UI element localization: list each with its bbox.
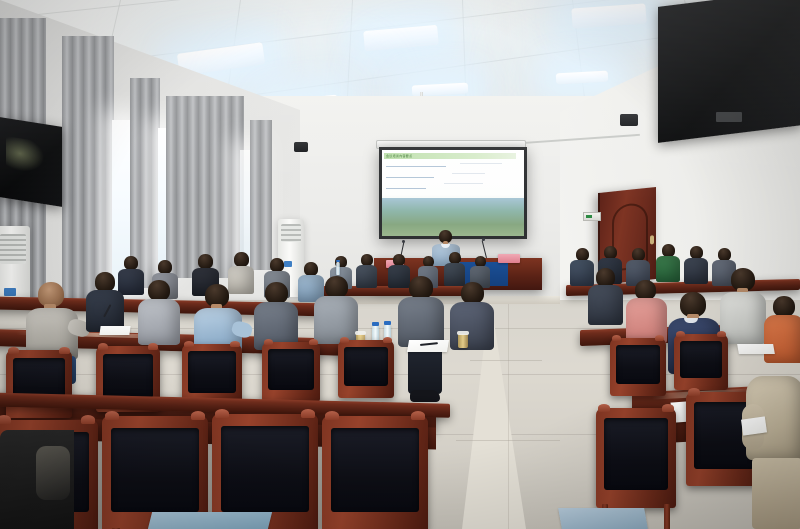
attendee-torso xyxy=(228,266,254,294)
attendee-head xyxy=(234,252,249,267)
bottle-cap xyxy=(384,321,391,325)
tea-cup-lid xyxy=(355,331,366,335)
nameplate-right xyxy=(498,254,520,263)
attendee-torso xyxy=(388,265,410,288)
attendee-torso xyxy=(764,315,800,363)
slide-title: 会议培训内容要点 xyxy=(386,153,460,159)
slide-rule-1 xyxy=(386,166,446,167)
attendee-torso xyxy=(444,263,465,286)
chair[interactable] xyxy=(674,334,728,390)
attendee-torso xyxy=(570,260,594,286)
projection-screen[interactable]: 会议培训内容要点 —————————————— ——————————— ————… xyxy=(379,147,527,239)
attendee-head xyxy=(198,254,213,269)
slide-body-line-1: —————————————— xyxy=(460,161,516,165)
slide-photo-area xyxy=(382,198,524,236)
attendee-head xyxy=(304,262,318,276)
standing-attendee-leg xyxy=(752,458,800,529)
attendee-torso xyxy=(656,256,680,282)
chair[interactable] xyxy=(596,408,676,508)
water-bottle xyxy=(336,262,340,275)
attendee-head xyxy=(95,272,115,292)
attendee-head xyxy=(270,258,284,272)
tea-cup-lid xyxy=(457,331,469,335)
aisle-tile-seam-3 xyxy=(508,300,509,529)
attendee-head xyxy=(635,280,656,300)
bottle-cap xyxy=(372,322,379,326)
curtain-front-right xyxy=(250,120,272,270)
exit-sign xyxy=(583,212,601,221)
chair[interactable] xyxy=(610,338,666,396)
door-handle-icon[interactable] xyxy=(650,235,654,244)
ac-vent-front xyxy=(281,224,301,242)
jacket-fold-highlight xyxy=(36,446,70,500)
wall-speaker-left xyxy=(294,142,308,152)
chair[interactable] xyxy=(262,342,320,402)
slide-rule-3 xyxy=(386,188,426,189)
attendee-head xyxy=(124,256,138,270)
attendee-head xyxy=(158,260,172,274)
paper-sheet xyxy=(99,326,130,335)
left-wall-display xyxy=(0,117,62,207)
curtain-front-left xyxy=(166,96,244,278)
paper-sheet xyxy=(148,512,272,529)
slide-body-line-3: ————————————— xyxy=(444,181,516,185)
wall-speaker-right xyxy=(620,114,638,126)
microphone-head-left xyxy=(402,240,405,243)
tea-cup xyxy=(458,334,468,348)
paper-sheet xyxy=(407,340,449,352)
attendee-torso xyxy=(314,296,358,344)
tv-mount-bracket xyxy=(716,112,742,122)
paper-sheet xyxy=(558,508,648,529)
chair[interactable] xyxy=(322,416,428,529)
attendee-torso xyxy=(684,258,708,284)
chair[interactable] xyxy=(338,340,394,398)
attendee-head xyxy=(148,280,170,301)
microphone-head-right xyxy=(482,238,485,241)
slide-body-line-2: ——————————— xyxy=(452,171,516,175)
attendee-torso xyxy=(356,265,377,288)
ac-badge-front xyxy=(284,261,292,267)
slide-rule-2 xyxy=(386,177,434,178)
attendee-torso xyxy=(138,299,180,345)
attendee-head xyxy=(265,282,288,304)
attendee-torso xyxy=(588,285,623,325)
attendee-torso xyxy=(118,269,144,295)
conference-room-photo: 会议培训内容要点 —————————————— ——————————— ————… xyxy=(0,0,800,529)
attendee-head xyxy=(325,276,348,298)
bottle-cap xyxy=(336,260,340,262)
attendee-torso xyxy=(450,302,494,350)
ac-vent-left xyxy=(0,234,26,264)
attendee-head xyxy=(773,296,795,317)
paper-sheet xyxy=(737,344,775,354)
paper-sheet xyxy=(741,416,767,435)
attendee-shoe xyxy=(410,390,440,402)
ac-badge-left xyxy=(4,288,16,296)
attendee-head xyxy=(409,276,433,299)
attendee-head xyxy=(461,282,484,304)
presentation-slide: 会议培训内容要点 —————————————— ——————————— ————… xyxy=(382,150,524,236)
aisle-tile-seam-1 xyxy=(470,360,542,361)
exit-sign-glyph xyxy=(586,215,592,218)
